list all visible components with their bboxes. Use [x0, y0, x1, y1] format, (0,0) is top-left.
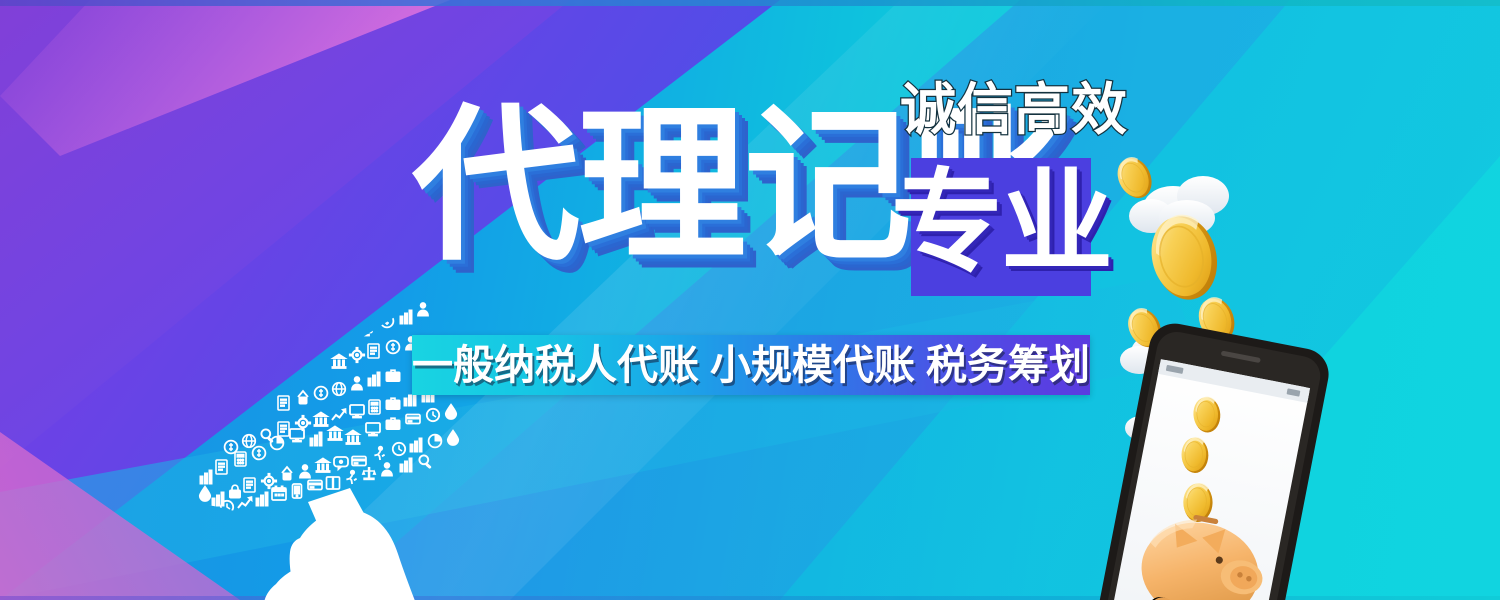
- background-top-edge-line: [0, 0, 1500, 6]
- badge-professional: 专业: [911, 158, 1091, 296]
- service-item-3: 税务筹划: [926, 342, 1090, 388]
- service-item-1: 一般纳税人代账: [412, 342, 699, 388]
- services-bar: 一般纳税人代账 小规模代账 税务筹划: [412, 335, 1090, 395]
- banner-root: 代理记账 诚信高效 专业 一般纳税人代账 小规模代账 税务筹划: [0, 0, 1500, 600]
- badge-professional-label: 专业: [891, 167, 1111, 279]
- megaphone-icon-cluster: [199, 296, 458, 518]
- hand-holding-megaphone: [264, 488, 421, 600]
- phone-coins-illustration: [1095, 120, 1425, 600]
- service-item-2: 小规模代账: [710, 342, 915, 388]
- tagline: 诚信高效: [900, 78, 1128, 142]
- page-title: 代理记账: [412, 86, 912, 301]
